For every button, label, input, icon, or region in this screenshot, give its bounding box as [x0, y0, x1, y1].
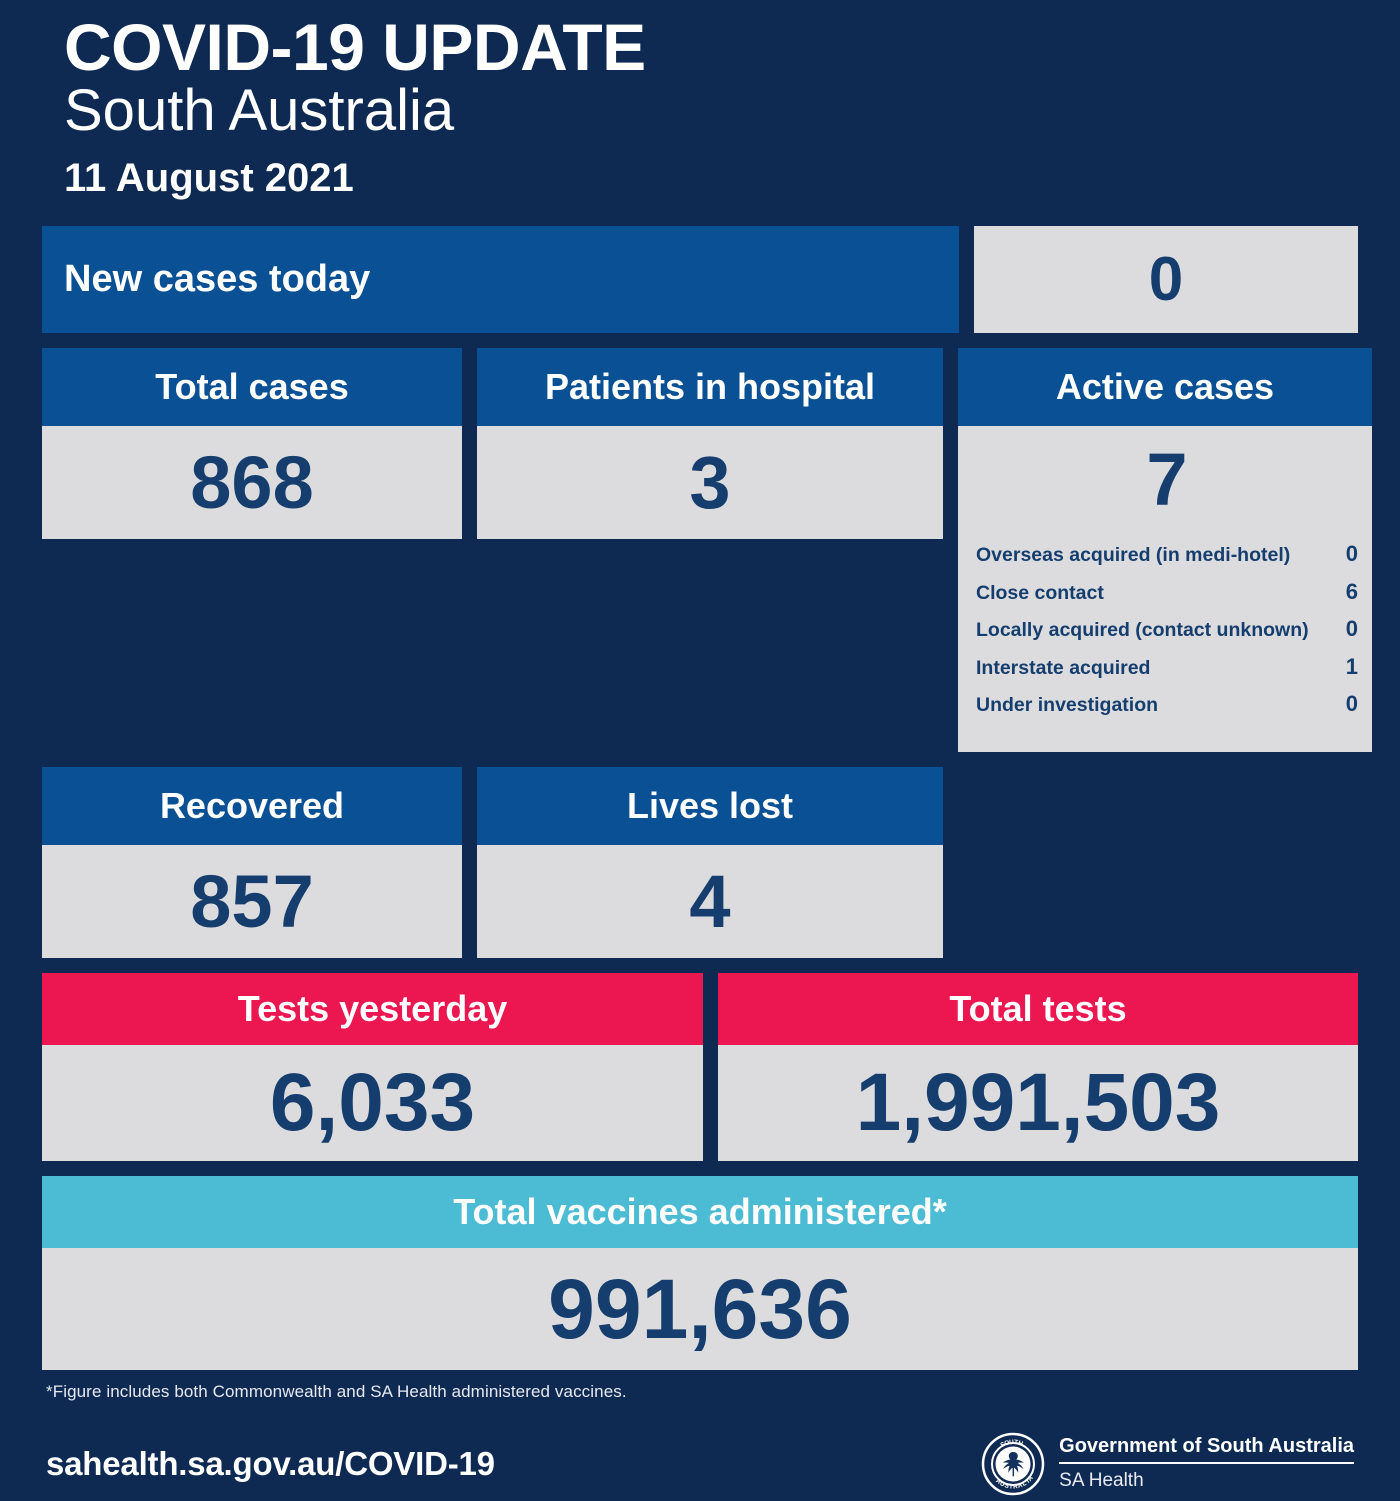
active-cases-label: Active cases	[958, 348, 1372, 426]
covid-update-infographic: COVID-19 UPDATE South Australia 11 Augus…	[0, 0, 1400, 1392]
active-cases-breakdown: Overseas acquired (in medi-hotel) 0 Clos…	[976, 536, 1358, 724]
tests-yesterday-label: Tests yesterday	[42, 973, 703, 1045]
tests-yesterday-card: Tests yesterday 6,033	[42, 973, 703, 1161]
total-tests-label: Total tests	[718, 973, 1358, 1045]
vaccines-row: Total vaccines administered* 991,636	[42, 1176, 1358, 1370]
region-subtitle: South Australia	[42, 81, 1358, 142]
stats-row-upper: Total cases 868 Patients in hospital 3 A…	[42, 348, 1358, 752]
header: COVID-19 UPDATE South Australia 11 Augus…	[42, 0, 1358, 208]
breakdown-value: 0	[1346, 618, 1358, 640]
lives-lost-card: Lives lost 4	[477, 767, 943, 958]
department-name: SA Health	[1059, 1464, 1354, 1494]
breakdown-value: 0	[1346, 543, 1358, 565]
new-cases-card: New cases today 0	[42, 226, 1358, 333]
report-date: 11 August 2021	[42, 142, 1358, 208]
government-name: Government of South Australia	[1059, 1434, 1354, 1464]
svg-text:H: H	[1017, 1440, 1024, 1448]
logo-text-block: Government of South Australia SA Health	[1059, 1434, 1354, 1494]
stats-grid: New cases today 0 Total cases 868 Patien…	[42, 226, 1358, 1370]
breakdown-row: Under investigation 0	[976, 686, 1358, 724]
active-cases-value: 7	[976, 426, 1358, 533]
breakdown-row: Locally acquired (contact unknown) 0	[976, 611, 1358, 649]
active-cases-card: Active cases 7 Overseas acquired (in med…	[958, 348, 1372, 752]
total-cases-card: Total cases 868	[42, 348, 462, 752]
recovered-label: Recovered	[42, 767, 462, 845]
breakdown-row: Close contact 6	[976, 573, 1358, 611]
total-vaccines-label: Total vaccines administered*	[42, 1176, 1358, 1248]
breakdown-label: Under investigation	[976, 696, 1166, 716]
website-url-link[interactable]: sahealth.sa.gov.au/COVID-19	[46, 1445, 495, 1483]
recovered-card: Recovered 857	[42, 767, 462, 958]
new-cases-row: New cases today 0	[42, 226, 1358, 333]
breakdown-label: Overseas acquired (in medi-hotel)	[976, 546, 1298, 566]
recovered-value: 857	[42, 845, 462, 958]
tests-row: Tests yesterday 6,033 Total tests 1,991,…	[42, 973, 1358, 1161]
patients-in-hospital-label: Patients in hospital	[477, 348, 943, 426]
lives-lost-value: 4	[477, 845, 943, 958]
svg-text:SOUTH: SOUTH	[981, 1432, 984, 1434]
total-cases-value: 868	[42, 426, 462, 539]
lives-lost-label: Lives lost	[477, 767, 943, 845]
stats-row-lower: Recovered 857 Lives lost 4	[42, 767, 1358, 958]
active-panel-spacer	[958, 767, 1372, 958]
south-australia-badge-icon: SOUTH S O U T H A U S T R A L	[981, 1432, 1045, 1496]
breakdown-value: 6	[1346, 581, 1358, 603]
total-cases-label: Total cases	[42, 348, 462, 426]
breakdown-label: Close contact	[976, 584, 1112, 604]
breakdown-value: 1	[1346, 656, 1358, 678]
active-cases-body: 7 Overseas acquired (in medi-hotel) 0 Cl…	[958, 426, 1372, 752]
vaccine-footnote: *Figure includes both Commonwealth and S…	[42, 1370, 1358, 1402]
total-tests-value: 1,991,503	[718, 1045, 1358, 1161]
breakdown-label: Locally acquired (contact unknown)	[976, 621, 1317, 641]
total-tests-card: Total tests 1,991,503	[718, 973, 1358, 1161]
tests-yesterday-value: 6,033	[42, 1045, 703, 1161]
total-vaccines-card: Total vaccines administered* 991,636	[42, 1176, 1358, 1370]
total-vaccines-value: 991,636	[42, 1248, 1358, 1370]
page-title: COVID-19 UPDATE	[42, 14, 1358, 81]
breakdown-row: Interstate acquired 1	[976, 648, 1358, 686]
new-cases-value: 0	[974, 226, 1358, 333]
footer: sahealth.sa.gov.au/COVID-19 SOUTH S O U	[42, 1402, 1358, 1496]
new-cases-label: New cases today	[42, 226, 959, 333]
breakdown-row: Overseas acquired (in medi-hotel) 0	[976, 536, 1358, 574]
sa-health-logo: SOUTH S O U T H A U S T R A L	[981, 1432, 1354, 1496]
breakdown-label: Interstate acquired	[976, 659, 1158, 679]
patients-in-hospital-value: 3	[477, 426, 943, 539]
breakdown-value: 0	[1346, 693, 1358, 715]
patients-in-hospital-card: Patients in hospital 3	[477, 348, 943, 752]
